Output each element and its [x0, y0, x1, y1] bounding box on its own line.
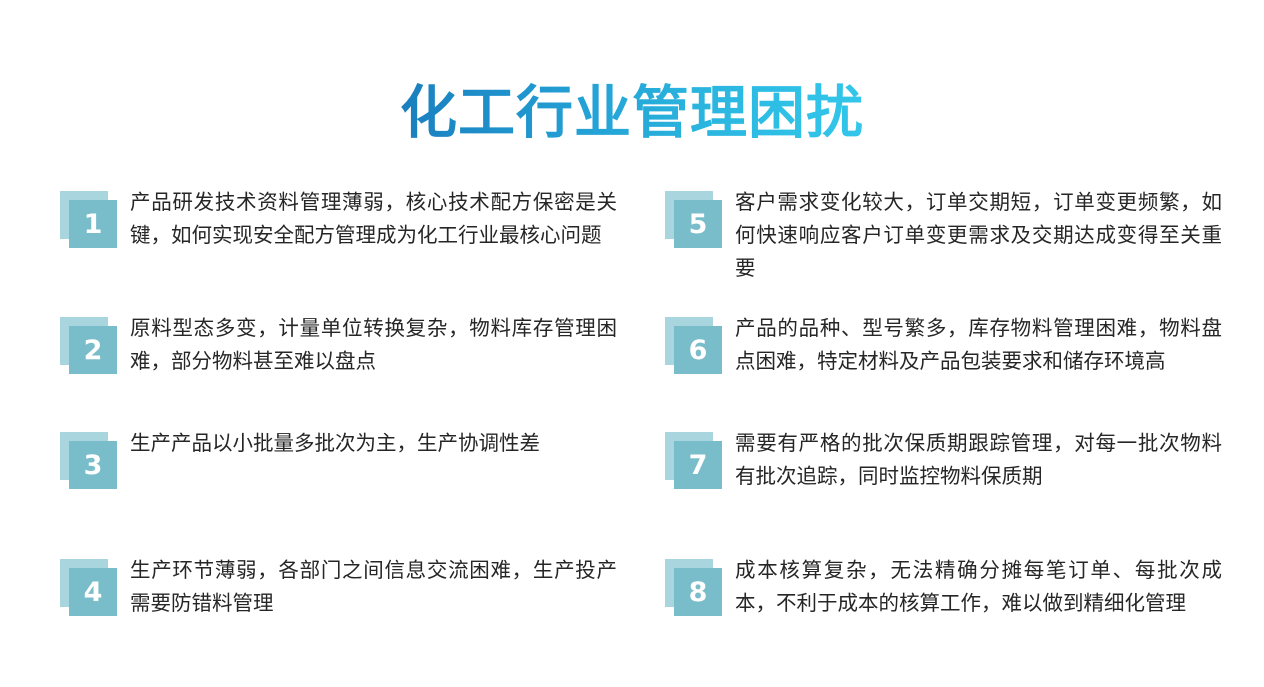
list-item-text: 生产环节薄弱，各部门之间信息交流困难，生产投产需要防错料管理: [130, 554, 617, 620]
list-item-text: 生产产品以小批量多批次为主，生产协调性差: [130, 427, 617, 460]
list-item-text: 需要有严格的批次保质期跟踪管理，对每一批次物料有批次追踪，同时监控物料保质期: [735, 427, 1222, 493]
number-badge: 5: [665, 191, 721, 247]
number-badge: 7: [665, 432, 721, 488]
number-badge: 3: [60, 432, 116, 488]
badge-number: 4: [69, 568, 117, 616]
list-item-text: 产品研发技术资料管理薄弱，核心技术配方保密是关键，如何实现安全配方管理成为化工行…: [130, 186, 617, 252]
badge-number: 5: [674, 200, 722, 248]
badge-number: 6: [674, 326, 722, 374]
number-badge: 4: [60, 559, 116, 615]
title-container: 化工行业管理困扰: [0, 44, 1264, 184]
page-title: 化工行业管理困扰: [400, 82, 864, 146]
badge-number: 3: [69, 441, 117, 489]
list-item-text: 原料型态多变，计量单位转换复杂，物料库存管理困难，部分物料甚至难以盘点: [130, 312, 617, 378]
list-item-text: 客户需求变化较大，订单交期短，订单变更频繁，如何快速响应客户订单变更需求及交期达…: [735, 186, 1222, 285]
number-badge: 2: [60, 317, 116, 373]
slide-root: 化工行业管理困扰 1 产品研发技术资料管理薄弱，核心技术配方保密是关键，如何实现…: [0, 0, 1264, 687]
number-badge: 6: [665, 317, 721, 373]
list-item-text: 产品的品种、型号繁多，库存物料管理困难，物料盘点困难，特定材料及产品包装要求和储…: [735, 312, 1222, 378]
content-columns: 1 产品研发技术资料管理薄弱，核心技术配方保密是关键，如何实现安全配方管理成为化…: [0, 186, 1264, 666]
badge-number: 2: [69, 326, 117, 374]
number-badge: 1: [60, 191, 116, 247]
badge-number: 8: [674, 568, 722, 616]
badge-number: 1: [69, 200, 117, 248]
number-badge: 8: [665, 559, 721, 615]
badge-number: 7: [674, 441, 722, 489]
column-left: 1 产品研发技术资料管理薄弱，核心技术配方保密是关键，如何实现安全配方管理成为化…: [52, 186, 622, 666]
column-right: 5 客户需求变化较大，订单交期短，订单变更频繁，如何快速响应客户订单变更需求及交…: [657, 186, 1227, 666]
list-item-text: 成本核算复杂，无法精确分摊每笔订单、每批次成本，不利于成本的核算工作，难以做到精…: [735, 554, 1222, 620]
